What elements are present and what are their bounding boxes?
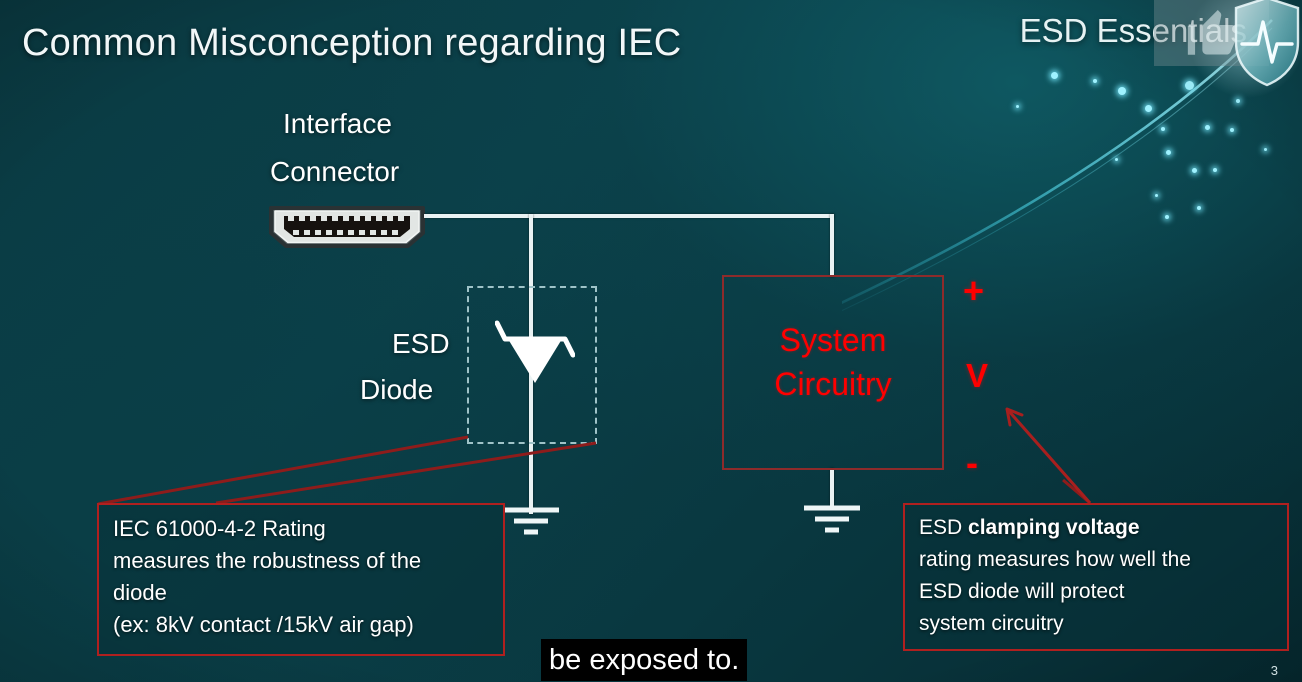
system-label-line2: Circuitry: [722, 362, 944, 406]
glow-particle: [1230, 128, 1234, 132]
callout-right-line4: system circuitry: [919, 608, 1273, 640]
callout-left-line4: (ex: 8kV contact /15kV air gap): [113, 609, 489, 641]
system-label-line1: System: [722, 318, 944, 362]
glow-particle: [1213, 168, 1217, 172]
callout-left-line2: measures the robustness of the: [113, 545, 489, 577]
polarity-plus-label: +: [963, 270, 984, 312]
callout-right-clamping-voltage: ESD clamping voltage rating measures how…: [903, 503, 1289, 651]
earth-ground-icon: [501, 504, 561, 538]
glow-particle: [1197, 206, 1201, 210]
callout-right-line2: rating measures how well the: [919, 544, 1273, 576]
glow-particle: [1093, 79, 1097, 83]
callout-right-bold-term: clamping voltage: [968, 516, 1140, 539]
callout-right-line1: ESD clamping voltage: [919, 512, 1273, 544]
glow-particle: [1236, 99, 1240, 103]
interface-label-line2: Connector: [270, 156, 399, 188]
polarity-voltage-label: V: [966, 357, 988, 395]
glow-particle: [1165, 215, 1169, 219]
page-number: 3: [1271, 663, 1278, 678]
wire-top-horizontal: [424, 214, 834, 218]
glow-particle: [1161, 127, 1165, 131]
callout-left-line3: diode: [113, 577, 489, 609]
leader-line-left-upper: [98, 437, 468, 504]
tvs-zener-diode-icon: [495, 315, 575, 395]
leader-line-right-stub: [1063, 480, 1090, 503]
glow-particle: [1155, 194, 1158, 197]
callout-right-line3: ESD diode will protect: [919, 576, 1273, 608]
shield-heartbeat-icon: [1232, 0, 1302, 88]
glow-particle: [1016, 105, 1019, 108]
system-circuitry-label: System Circuitry: [722, 318, 944, 406]
callout-left-line1: IEC 61000-4-2 Rating: [113, 513, 489, 545]
glow-particle: [1205, 125, 1210, 130]
glow-particle: [1185, 81, 1194, 90]
glow-particle: [1264, 148, 1267, 151]
leader-line-left-lower: [216, 443, 596, 503]
esd-label-line1: ESD: [392, 328, 450, 360]
glow-particle: [1145, 105, 1152, 112]
glow-particle: [1118, 87, 1126, 95]
glow-particle: [1166, 150, 1171, 155]
glow-particle: [1051, 72, 1058, 79]
glow-particle: [1192, 168, 1197, 173]
esd-label-line2: Diode: [360, 374, 433, 406]
glow-particle: [1115, 158, 1118, 161]
callout-right-prefix: ESD: [919, 516, 968, 539]
wire-system-branch: [830, 214, 834, 277]
callout-left-iec-rating: IEC 61000-4-2 Rating measures the robust…: [97, 503, 505, 656]
polarity-minus-label: -: [966, 442, 978, 484]
page-title: Common Misconception regarding IEC: [22, 22, 681, 65]
interface-label-line1: Interface: [283, 108, 392, 140]
hdmi-connector-icon: [266, 203, 428, 251]
arrow-to-voltage: [1007, 409, 1090, 503]
subtitle-caption: be exposed to.: [541, 639, 747, 681]
slide-canvas: Common Misconception regarding IEC ESD E…: [0, 0, 1302, 682]
earth-ground-icon: [802, 502, 862, 536]
